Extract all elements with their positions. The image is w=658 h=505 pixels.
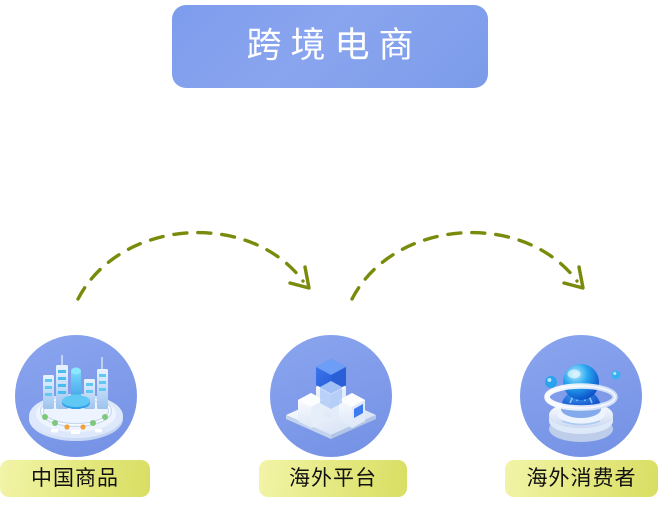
- node-label-text: 海外平台: [289, 468, 377, 489]
- arrow-platform-to-consumer: [352, 233, 583, 299]
- stacked-boxes-icon: [270, 335, 392, 457]
- node-label-overseas-consumer: 海外消费者: [505, 460, 658, 497]
- node-label-text: 海外消费者: [527, 468, 637, 489]
- city-skyline-icon: [15, 335, 137, 457]
- node-label-overseas-platform: 海外平台: [259, 460, 407, 497]
- arrow-goods-to-platform: [78, 233, 309, 299]
- orbiting-sphere-icon: [520, 335, 642, 457]
- node-overseas-platform[interactable]: 海外平台: [255, 335, 405, 505]
- node-overseas-consumer[interactable]: 海外消费者: [505, 335, 655, 505]
- node-icon-circle: [270, 335, 392, 457]
- node-label-chinese-goods: 中国商品: [0, 460, 150, 497]
- node-label-text: 中国商品: [31, 468, 119, 489]
- diagram-canvas: 跨境电商: [0, 0, 658, 500]
- node-chinese-goods[interactable]: 中国商品: [0, 335, 150, 505]
- page-title-banner: 跨境电商: [172, 5, 488, 88]
- node-icon-circle: [15, 335, 137, 457]
- page-title: 跨境电商: [237, 29, 422, 64]
- node-icon-circle: [520, 335, 642, 457]
